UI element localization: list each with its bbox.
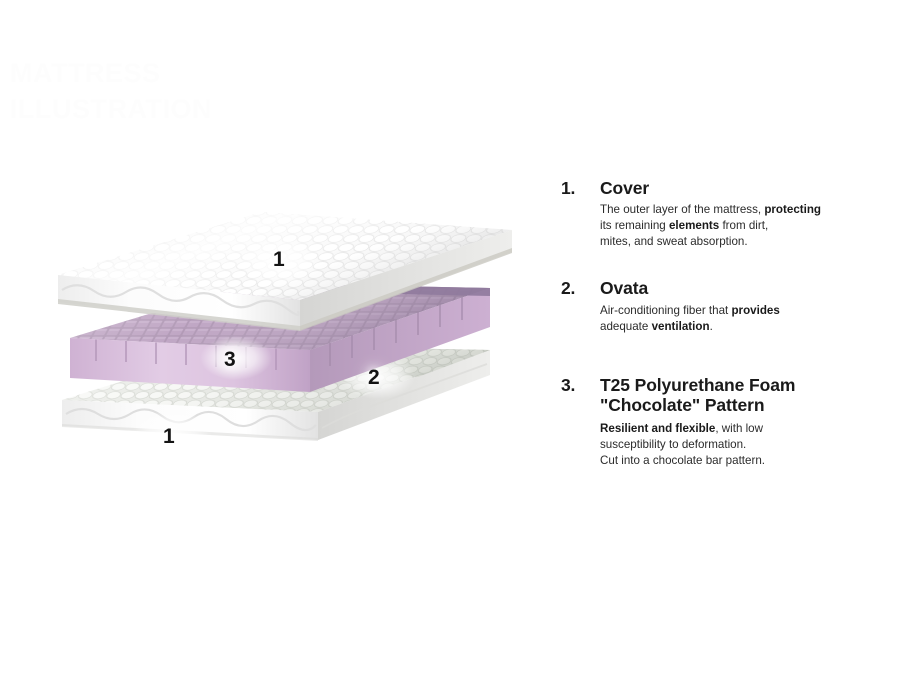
legend-index-2: 2. — [561, 278, 575, 299]
legend-body-line: The outer layer of the mattress, protect… — [600, 202, 881, 218]
legend-body-line: its remaining elements from dirt, — [600, 218, 881, 234]
legend-body-line: susceptibility to deformation. — [600, 437, 881, 453]
legend-body-cover: The outer layer of the mattress, protect… — [600, 202, 881, 250]
legend-title-foam: T25 Polyurethane Foam "Chocolate" Patter… — [600, 375, 881, 416]
legend-body-foam: Resilient and flexible, with lowsuscepti… — [600, 421, 881, 469]
legend-body-line: Cut into a chocolate bar pattern. — [600, 453, 881, 469]
page-root: MATTRESS ILLUSTRATION — [0, 0, 900, 675]
legend-title-cover: Cover — [600, 178, 881, 198]
legend-body-line: Resilient and flexible, with low — [600, 421, 881, 437]
legend-index-3: 3. — [561, 375, 575, 396]
layer-label-cover-top: 1 — [273, 248, 285, 272]
legend-title-ovata: Ovata — [600, 278, 881, 298]
mattress-layers-illustration: 1 3 2 1 — [0, 0, 540, 675]
legend-item-foam: 3. T25 Polyurethane Foam "Chocolate" Pat… — [561, 375, 881, 470]
legend-item-cover: 1. Cover The outer layer of the mattress… — [561, 178, 881, 250]
legend-item-ovata: 2. Ovata Air-conditioning fiber that pro… — [561, 278, 881, 334]
legend-body-line: mites, and sweat absorption. — [600, 234, 881, 250]
legend-index-1: 1. — [561, 178, 575, 199]
layer-label-foam: 3 — [224, 348, 236, 372]
mattress-exploded-diagram — [0, 0, 540, 675]
legend-title-foam-line-2: "Chocolate" Pattern — [600, 395, 764, 415]
layer-label-ovata: 2 — [368, 366, 380, 390]
legend-body-line: adequate ventilation. — [600, 319, 881, 335]
layer-label-cover-bottom: 1 — [163, 425, 175, 449]
legend-body-line: Air-conditioning fiber that provides — [600, 303, 881, 319]
legend-body-ovata: Air-conditioning fiber that providesadeq… — [600, 303, 881, 335]
layer-legend-list: 1. Cover The outer layer of the mattress… — [561, 178, 881, 469]
legend-title-foam-line-1: T25 Polyurethane Foam — [600, 375, 795, 395]
